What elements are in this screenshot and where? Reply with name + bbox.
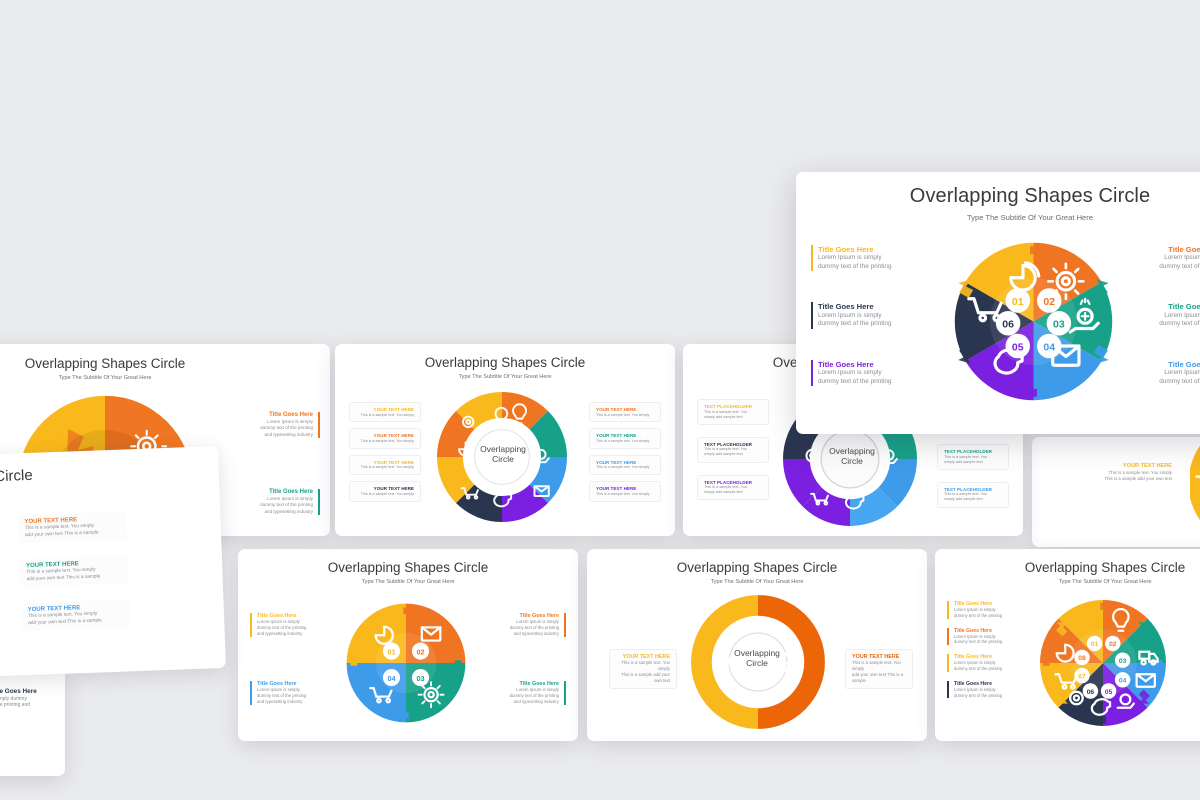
segment-number: 04 [1043, 341, 1055, 353]
segment-number: 01 [1091, 641, 1099, 648]
block-line: dummy text of the printing [954, 639, 1027, 645]
segment-number: 01 [387, 647, 395, 656]
slide-subtitle: Type The Subtitle Of Your Great Here [335, 374, 675, 380]
segment-number: 06 [1002, 319, 1014, 331]
slide-8-segment-donut[interactable]: Overlapping Shapes Circle Type The Subti… [335, 344, 675, 536]
block-line: Lorem Ipsum is simply [1142, 369, 1200, 378]
text-block[interactable]: TEXT PLACEHOLDERThis is a sample text. Y… [937, 444, 1009, 470]
block-title: Title Goes Here [260, 489, 313, 496]
text-block-right[interactable]: YOUR TEXT HERE This is a sample text. Yo… [845, 649, 913, 689]
block-line: dummy text of the printing [260, 502, 313, 508]
poster-canvas: Overlapping Shapes Circle Type The Subti… [0, 0, 1200, 800]
block-line: dummy text of the printing [818, 378, 919, 387]
block-line: This is a sample add your own text [616, 672, 670, 684]
segment-number: 04 [1119, 678, 1127, 685]
block-line: simply add sample text [704, 490, 762, 495]
text-block[interactable]: YOUR TEXT HEREThis is a sample text. You… [349, 402, 421, 422]
block-line: dummy text of the printing [954, 613, 1027, 619]
segment-number: 02 [416, 647, 424, 656]
text-block[interactable]: YOUR TEXT HEREThis is a sample text. You… [589, 481, 661, 501]
slide-subtitle: Type The Subtitle Of Your Great Here [796, 213, 1200, 222]
block-line: and typesetting industry [257, 699, 332, 705]
text-block[interactable]: Title Goes HereLorem Ipsum is simplydumm… [811, 302, 919, 328]
octo-wheel-graphic: 01 02 03 04 05 06 07 08 [1033, 593, 1173, 733]
left-items-column: YOUR TEXT HEREThis is a sample text. You… [349, 402, 421, 502]
slide-title: Overlapping Shapes Circle [935, 560, 1200, 576]
featured-left-column: Title Goes HereLorem Ipsum is simplydumm… [811, 245, 919, 386]
segment-number: 03 [1119, 658, 1127, 665]
slide-featured-6-segment[interactable]: Overlapping Shapes Circle Type The Subti… [796, 172, 1200, 434]
block-line: Lorem Ipsum is simply [818, 312, 919, 321]
text-block[interactable]: YOUR TEXT HERE This is a sample text. Yo… [1080, 459, 1178, 486]
slide-title: Overlapping Shapes Circle [335, 355, 675, 371]
block-line: simply add sample text [944, 460, 1002, 465]
block-line: dummy text of the printing [818, 320, 919, 329]
block-line: This is a sample add your own text [1086, 476, 1172, 482]
block-line: and typesetting industry [484, 699, 559, 705]
text-block[interactable]: YOUR TEXT HEREThis is a sample text. You… [21, 600, 130, 632]
block-title: Title Goes Here [0, 688, 37, 696]
block-line: dummy text of the printing [954, 693, 1027, 699]
segment-number: 02 [1043, 296, 1055, 308]
center-line-1: Overlapping [475, 444, 531, 454]
block-line: and typesetting industry [260, 509, 313, 515]
donut-center-text: Overlapping Circle [475, 444, 531, 464]
segment-number: 05 [1012, 341, 1024, 353]
text-block[interactable]: Title Goes Here is simply dummy of the p… [0, 688, 37, 709]
block-line: This is a sample text. You simply [356, 439, 414, 444]
text-block[interactable]: Title Goes HereLorem Ipsum is simplydumm… [947, 654, 1027, 672]
slide-subtitle: Type The Subtitle Of Your Great Here [0, 375, 330, 381]
block-line: add your own text This is a sample [852, 672, 906, 684]
block-line: This is a sample text. You simply [596, 439, 654, 444]
left-blocks-column: Title Goes HereLorem Ipsum is simplydumm… [250, 613, 332, 705]
block-line: dummy text of the printing [1142, 263, 1200, 272]
block-line: and typesetting industry [484, 631, 559, 637]
slide-right-edge-partial[interactable]: Overlap Circl YOUR TEXT HERE This is a s… [1032, 437, 1200, 547]
block-title: YOUR TEXT HERE [1086, 463, 1172, 470]
center-line-2: Circle [729, 658, 785, 668]
block-line: and typesetting industry [257, 631, 332, 637]
right-items-column: YOUR TEXT HEREThis is a sample text. You… [589, 402, 661, 502]
block-line: This is a sample text. You simply [616, 660, 670, 672]
segment-number: 03 [416, 674, 424, 683]
block-line: and typesetting industry [260, 432, 313, 438]
donut-graphic [1190, 437, 1200, 547]
text-block[interactable]: YOUR TEXT HEREThis is a sample text. You… [589, 455, 661, 475]
block-line: dummy text of the printing [954, 666, 1027, 672]
text-block[interactable]: Title Goes HereLorem Ipsum is simplydumm… [1142, 360, 1200, 386]
block-title: Title Goes Here [818, 245, 919, 254]
block-line: This is a sample text. You simply [596, 465, 654, 470]
segment-number: 05 [1105, 689, 1113, 696]
center-line-2: Circle [823, 456, 881, 466]
text-block[interactable]: YOUR TEXT HEREThis is a sample text. You… [349, 481, 421, 501]
slide-subtitle: Type The Subtitle Of Your Great Here [935, 579, 1200, 585]
segment-number: 08 [1078, 655, 1086, 662]
block-line: Lorem Ipsum is simply [1142, 254, 1200, 263]
block-line: Lorem Ipsum is simply [818, 369, 919, 378]
slide-title: Overlapping Shapes Circle [0, 356, 330, 372]
block-line: This is a sample text. You simply [596, 492, 654, 497]
block-line: This is a sample text. You simply [356, 465, 414, 470]
slide-2-segment-donut[interactable]: Overlapping Shapes Circle Type The Subti… [587, 549, 927, 741]
text-block-right-1[interactable]: Title Goes Here Lorem Ipsum is simply du… [260, 412, 320, 438]
block-line: simply add sample text [704, 415, 762, 420]
text-block[interactable]: TEXT PLACEHOLDERThis is a sample text. Y… [697, 437, 769, 463]
text-block[interactable]: YOUR TEXT HEREThis is a sample text. You… [20, 556, 129, 588]
text-block[interactable]: Title Goes HereLorem Ipsum is simplydumm… [250, 613, 332, 637]
text-block-right-2[interactable]: Title Goes Here Lorem Ipsum is simply du… [260, 489, 320, 515]
text-block[interactable]: Title Goes HereLorem Ipsum is simplydumm… [484, 681, 566, 705]
slide-bottom-left-partial[interactable]: Title Goes Here is simply dummy of the p… [0, 666, 65, 776]
block-line: dummy text of the printing [818, 263, 919, 272]
quad-wheel-graphic: 01 02 03 04 [340, 597, 472, 729]
segment-number: 04 [387, 674, 395, 683]
items-column: YOUR TEXT HEREThis is a sample text. You… [18, 511, 130, 631]
block-line: This is a sample text. You simply [596, 413, 654, 418]
text-block[interactable]: Title Goes HereLorem Ipsum is simplydumm… [1142, 302, 1200, 328]
text-block[interactable]: YOUR TEXT HEREThis is a sample text. You… [349, 455, 421, 475]
block-title: Title Goes Here [818, 360, 919, 369]
block-line: is simply dummy [0, 696, 37, 703]
left-blocks-column: Title Goes HereLorem Ipsum is simplydumm… [947, 601, 1027, 698]
center-line-2: Circle [475, 454, 531, 464]
block-line: dummy text of the printing [1142, 320, 1200, 329]
block-line: of the printing and [0, 702, 37, 709]
segment-number: 07 [1078, 673, 1086, 680]
featured-wheel-graphic: 01 02 03 04 05 06 [946, 234, 1121, 409]
text-block[interactable]: Title Goes HereLorem Ipsum is simplydumm… [250, 681, 332, 705]
center-line-1: Overlapping [823, 446, 881, 456]
block-line: Lorem Ipsum is simply [818, 254, 919, 263]
text-block[interactable]: YOUR TEXT HEREThis is a sample text. You… [589, 428, 661, 448]
slide-front-left-donut[interactable]: ping Shapes Circle e Subtitle Of Your Gr… [0, 446, 226, 680]
block-title: Title Goes Here [260, 412, 313, 419]
text-block[interactable]: Title Goes HereLorem Ipsum is simplydumm… [947, 681, 1027, 699]
slide-subtitle: Type The Subtitle Of Your Great Here [587, 579, 927, 585]
slide-8-segment-numbered[interactable]: Overlapping Shapes Circle Type The Subti… [935, 549, 1200, 741]
text-block-left[interactable]: YOUR TEXT HERE This is a sample text. Yo… [609, 649, 677, 689]
donut-center-text: Overlapping Circle [729, 648, 785, 668]
text-block[interactable]: TEXT PLACEHOLDERThis is a sample text. Y… [697, 475, 769, 501]
slide-title: Overlapping Shapes Circle [587, 560, 927, 576]
block-title: Title Goes Here [1142, 245, 1200, 254]
left-items-column: TEXT PLACEHOLDERThis is a sample text. Y… [697, 399, 769, 500]
right-items-column: TEXT PLACEHOLDERThis is a sample text. Y… [937, 444, 1009, 508]
segment-number: 06 [1087, 689, 1095, 696]
slide-subtitle: Type The Subtitle Of Your Great Here [238, 579, 578, 585]
block-line: This is a sample text. You simply [356, 492, 414, 497]
block-line: This is a sample text. You simply [852, 660, 906, 672]
text-block[interactable]: YOUR TEXT HEREThis is a sample text. You… [349, 428, 421, 448]
block-line: dummy text of the printing [1142, 378, 1200, 387]
text-block[interactable]: Title Goes HereLorem Ipsum is simplydumm… [1142, 245, 1200, 271]
slide-4-segment[interactable]: Overlapping Shapes Circle Type The Subti… [238, 549, 578, 741]
slide-title: Overlapping Shapes Circle [796, 185, 1200, 208]
text-block[interactable]: TEXT PLACEHOLDERThis is a sample text. Y… [937, 482, 1009, 508]
text-block[interactable]: Title Goes HereLorem Ipsum is simplydumm… [811, 360, 919, 386]
block-title: Title Goes Here [818, 302, 919, 311]
text-block[interactable]: TEXT PLACEHOLDERThis is a sample text. Y… [697, 399, 769, 425]
text-block[interactable]: Title Goes HereLorem Ipsum is simplydumm… [947, 628, 1027, 646]
text-block[interactable]: YOUR TEXT HEREThis is a sample text. You… [18, 511, 127, 543]
right-blocks-column: Title Goes HereLorem Ipsum is simplydumm… [484, 613, 566, 705]
segment-number: 03 [1053, 319, 1065, 331]
segment-number: 02 [1109, 641, 1117, 648]
block-line: This is a sample text. You simply [356, 413, 414, 418]
segment-number: 01 [1012, 296, 1024, 308]
featured-right-column: Title Goes HereLorem Ipsum is simplydumm… [1142, 245, 1200, 386]
center-line-1: Overlapping [729, 648, 785, 658]
text-block[interactable]: Title Goes HereLorem Ipsum is simplydumm… [811, 245, 919, 271]
text-block[interactable]: YOUR TEXT HEREThis is a sample text. You… [589, 402, 661, 422]
block-line: Lorem Ipsum is simply [1142, 312, 1200, 321]
block-title: Title Goes Here [1142, 302, 1200, 311]
block-line: simply add sample text [944, 497, 1002, 502]
slide-title: Overlapping Shapes Circle [238, 560, 578, 576]
block-title: Title Goes Here [1142, 360, 1200, 369]
block-line: dummy text of the printing [260, 425, 313, 431]
donut-center-text: Overlapping Circle [823, 446, 881, 466]
text-block[interactable]: Title Goes HereLorem Ipsum is simplydumm… [484, 613, 566, 637]
text-block[interactable]: Title Goes HereLorem Ipsum is simplydumm… [947, 601, 1027, 619]
block-line: simply add sample text [704, 452, 762, 457]
